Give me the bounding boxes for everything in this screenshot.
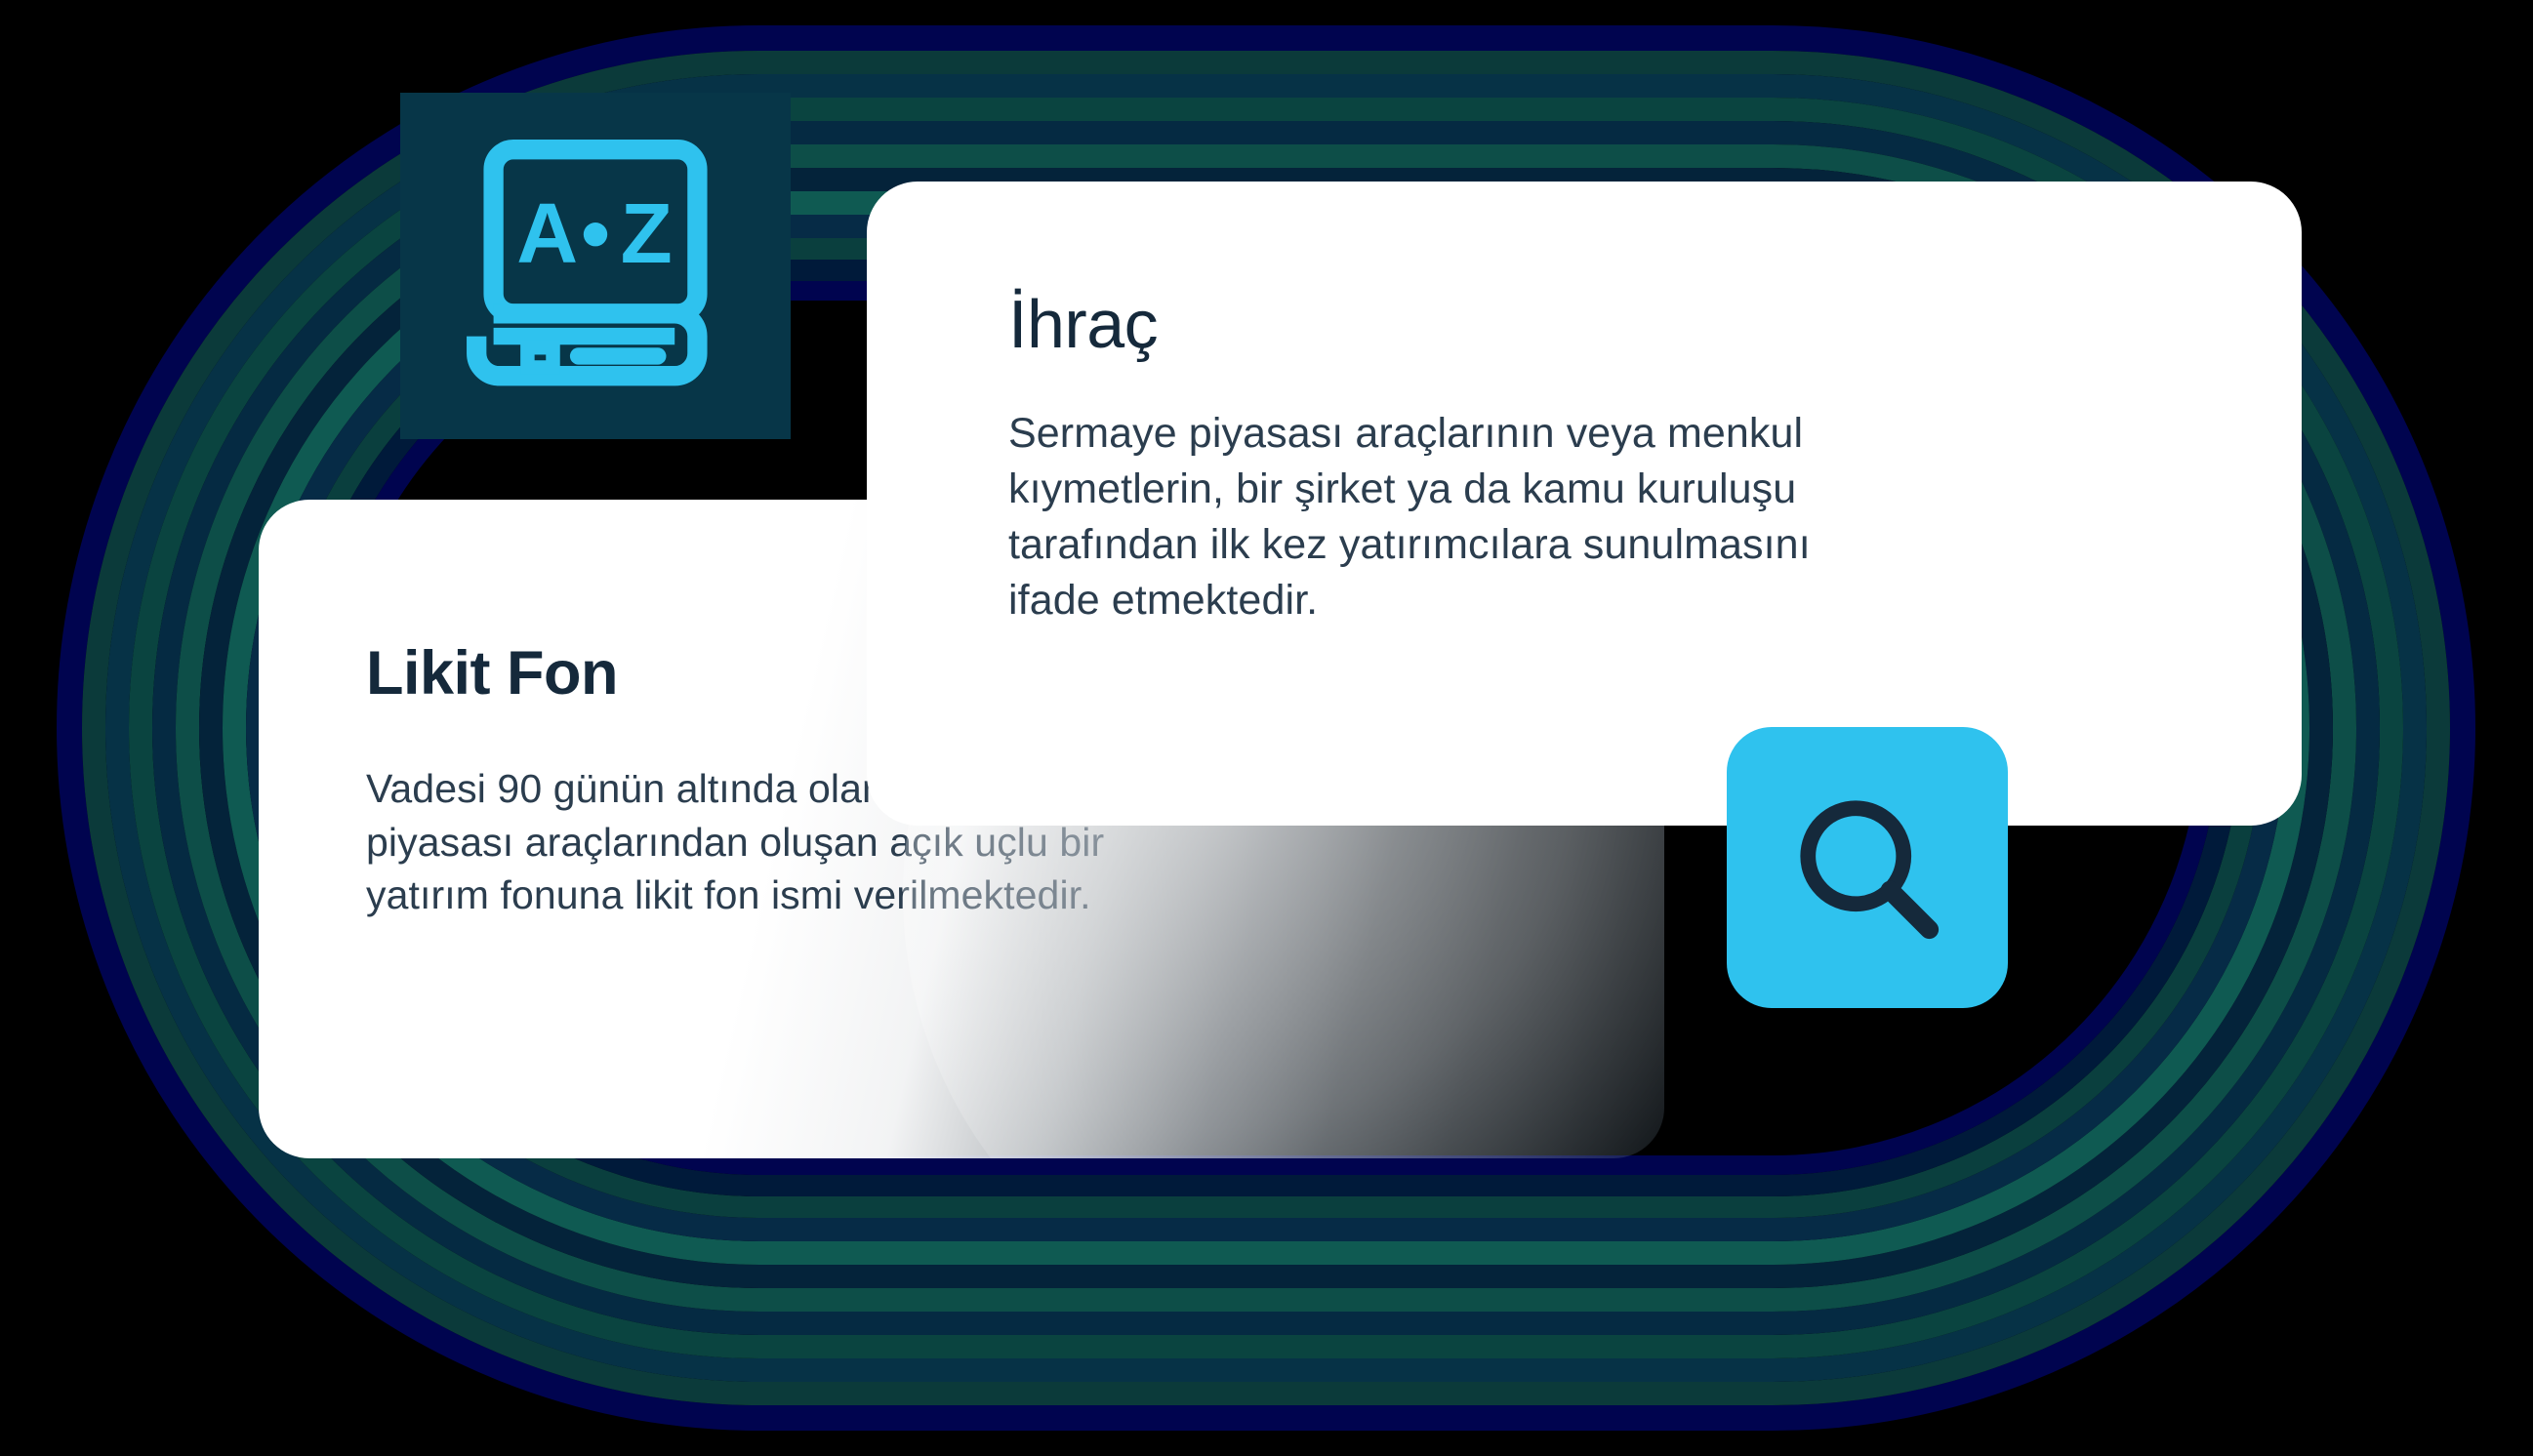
svg-text:A: A bbox=[516, 186, 578, 281]
search-button[interactable] bbox=[1727, 727, 2008, 1008]
card-ihrac-title: İhraç bbox=[1008, 289, 2170, 361]
a-z-book-icon-tile: A Z bbox=[400, 93, 791, 439]
card-ihrac[interactable]: İhraç Sermaye piyasası araçlarının veya … bbox=[867, 182, 2302, 826]
search-icon bbox=[1782, 783, 1953, 953]
card-ihrac-body-line: kıymetlerin, bir şirket ya da kamu kurul… bbox=[1008, 462, 2170, 517]
svg-text:Z: Z bbox=[621, 186, 673, 281]
a-z-book-icon: A Z bbox=[454, 127, 737, 410]
card-likit-fon-body-line: yatırım fonuna likit fon ismi verilmekte… bbox=[366, 869, 1537, 922]
card-ihrac-body-line: Sermaye piyasası araçlarının veya menkul bbox=[1008, 406, 2170, 462]
card-ihrac-body-line: tarafından ilk kez yatırımcılara sunulma… bbox=[1008, 517, 2170, 573]
card-ihrac-body-line: ifade etmektedir. bbox=[1008, 573, 2170, 628]
card-ihrac-body: Sermaye piyasası araçlarının veya menkul… bbox=[1008, 406, 2170, 629]
